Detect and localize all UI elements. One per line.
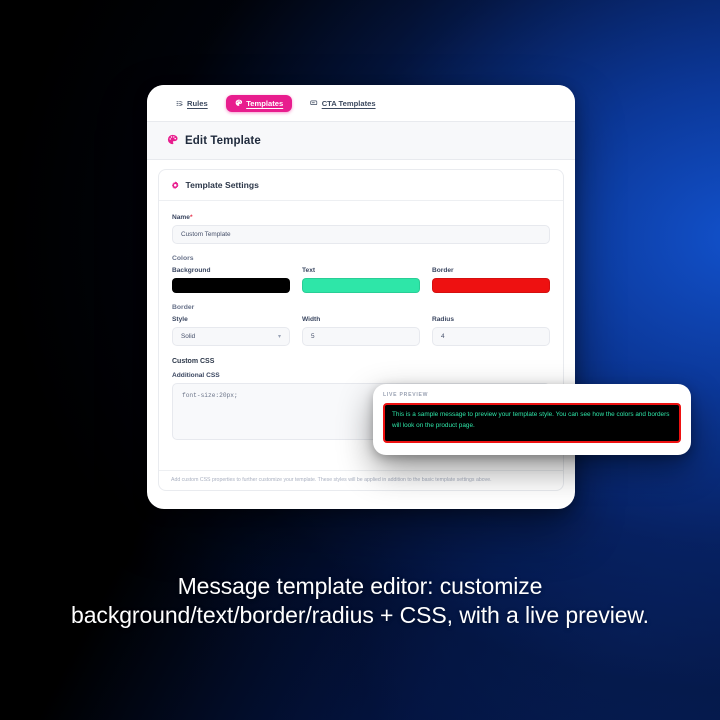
border-style-value: Solid (181, 333, 195, 340)
border-color-label: Border (432, 267, 550, 274)
live-preview-label: LIVE PREVIEW (383, 392, 681, 398)
background-color-swatch[interactable] (172, 278, 290, 293)
colors-row: Background Text Border (172, 267, 550, 293)
live-preview-card: LIVE PREVIEW This is a sample message to… (373, 384, 691, 455)
text-color-swatch[interactable] (302, 278, 420, 293)
page-title: Edit Template (185, 135, 261, 147)
page-header-palette-icon (167, 132, 178, 150)
chevron-down-icon: ▾ (278, 334, 281, 340)
border-row: Style Solid ▾ Width 5 Radius 4 (172, 316, 550, 346)
border-style-label: Style (172, 316, 290, 323)
color-field-border: Border (432, 267, 550, 293)
border-radius-label: Radius (432, 316, 550, 323)
border-section-label: Border (172, 304, 550, 311)
preview-message: This is a sample message to preview your… (383, 403, 681, 443)
rules-list-icon (176, 100, 183, 107)
additional-css-label: Additional CSS (172, 372, 550, 379)
name-field-label: Name* (172, 214, 550, 221)
tab-templates-label: Templates (246, 99, 283, 108)
palette-icon (235, 99, 243, 107)
background-color-label: Background (172, 267, 290, 274)
border-radius-field: Radius 4 (432, 316, 550, 346)
tab-rules-label: Rules (187, 99, 208, 108)
cta-button-icon (310, 99, 318, 107)
colors-section-label: Colors (172, 255, 550, 262)
border-color-swatch[interactable] (432, 278, 550, 293)
name-input[interactable]: Custom Template (172, 225, 550, 244)
tab-templates[interactable]: Templates (226, 95, 293, 112)
template-settings-header: Template Settings (159, 170, 563, 201)
border-style-field: Style Solid ▾ (172, 316, 290, 346)
border-width-value: 5 (311, 333, 315, 340)
tab-cta-templates[interactable]: CTA Templates (301, 95, 384, 112)
gear-icon (171, 176, 180, 194)
name-label-text: Name (172, 214, 190, 221)
required-marker: * (190, 214, 193, 221)
custom-css-help-text: Add custom CSS properties to further cus… (159, 470, 563, 490)
border-width-field: Width 5 (302, 316, 420, 346)
tab-rules[interactable]: Rules (167, 95, 217, 112)
border-radius-value: 4 (441, 333, 445, 340)
border-width-label: Width (302, 316, 420, 323)
border-radius-input[interactable]: 4 (432, 327, 550, 346)
color-field-background: Background (172, 267, 290, 293)
caption-text: Message template editor: customize backg… (60, 572, 660, 630)
name-input-value: Custom Template (181, 231, 231, 238)
template-settings-title: Template Settings (186, 180, 259, 190)
page-header: Edit Template (147, 122, 575, 160)
custom-css-heading: Custom CSS (172, 358, 550, 365)
color-field-text: Text (302, 267, 420, 293)
text-color-label: Text (302, 267, 420, 274)
border-style-select[interactable]: Solid ▾ (172, 327, 290, 346)
border-width-input[interactable]: 5 (302, 327, 420, 346)
tab-cta-templates-label: CTA Templates (322, 99, 376, 108)
tab-bar: Rules Templates CTA Templ (147, 85, 575, 122)
